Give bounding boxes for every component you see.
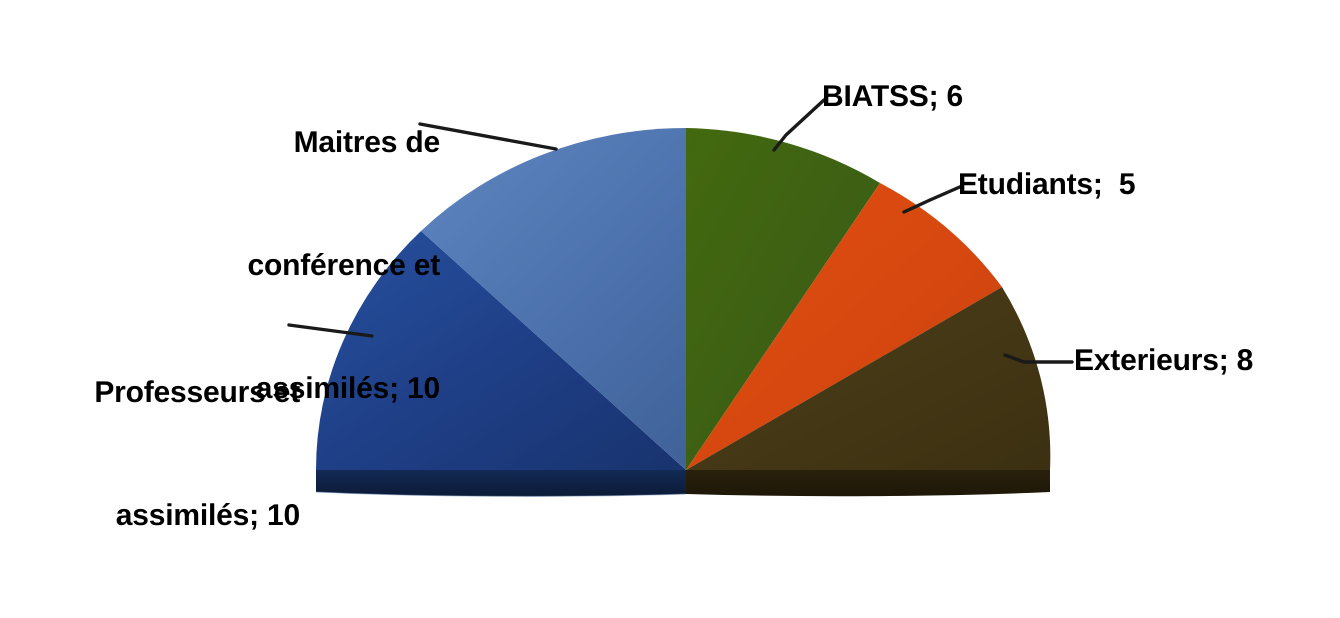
data-label-etudiants: Etudiants; 5	[958, 164, 1258, 205]
data-label-biatss: BIATSS; 6	[822, 76, 1122, 117]
data-label-professeurs-line2: assimilés; 10	[20, 495, 300, 536]
leader-line-biatss	[774, 100, 824, 150]
data-label-professeurs: Professeurs et assimilés; 10	[20, 290, 300, 618]
pie-chart-figure: Maitres de conférence et assimilés; 10 P…	[0, 0, 1340, 534]
leader-line-etudiants	[904, 186, 962, 212]
data-label-exterieurs: Exterieurs; 8	[1074, 340, 1340, 381]
leader-line-maitres	[420, 124, 556, 149]
data-label-maitres-line2: conférence et	[180, 245, 440, 286]
data-label-professeurs-line1: Professeurs et	[20, 372, 300, 413]
data-label-maitres-line1: Maitres de	[180, 122, 440, 163]
pie-base-right	[686, 470, 1050, 496]
